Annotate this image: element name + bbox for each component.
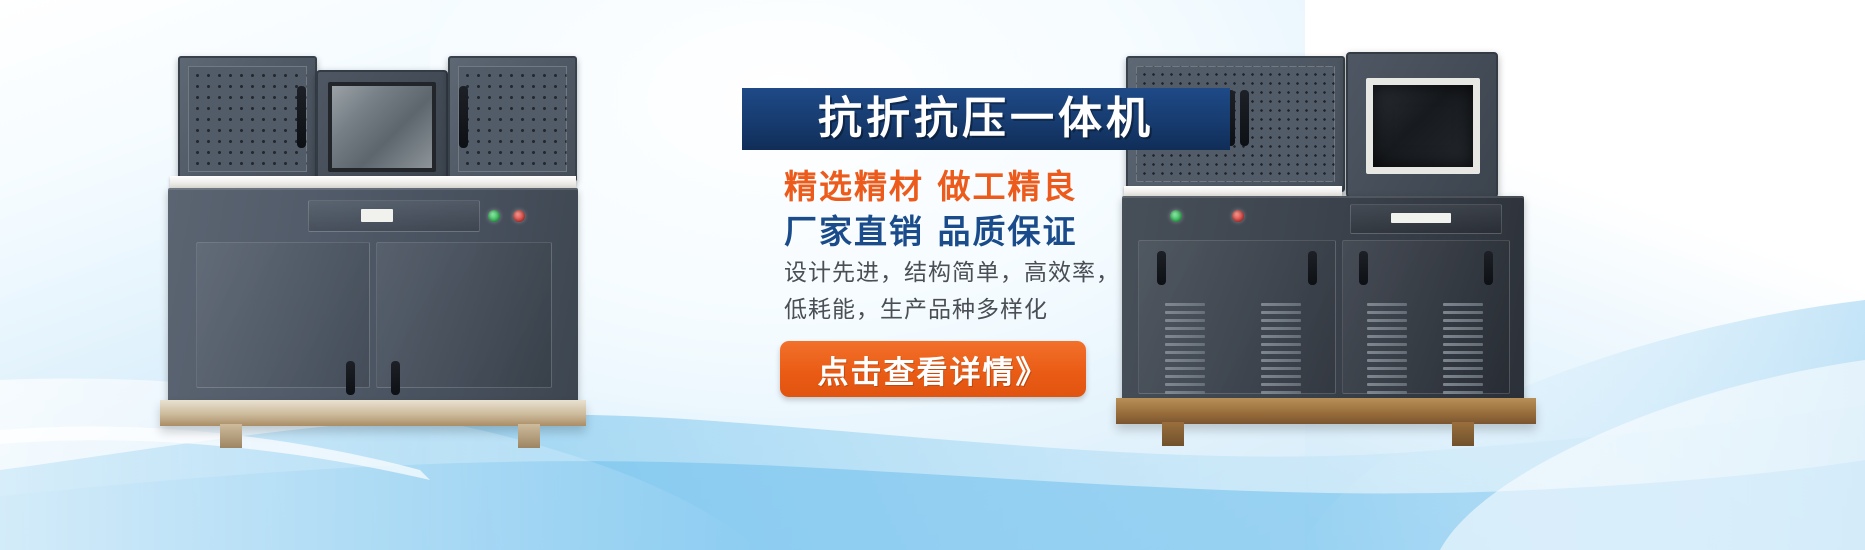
door-handle — [391, 361, 400, 395]
left-control-drawer — [308, 200, 480, 232]
description-line-1: 设计先进，结构简单，高效率， — [784, 253, 1254, 287]
view-details-button[interactable]: 点击查看详情》 — [780, 341, 1086, 397]
left-cabinet-door-b — [376, 242, 552, 388]
left-machine-pallet — [160, 400, 586, 426]
door-handle — [1359, 251, 1368, 285]
left-cabinet-door-a — [196, 242, 370, 388]
right-display-screen — [1366, 78, 1480, 174]
right-monitor-housing — [1346, 52, 1498, 198]
red-indicator — [513, 210, 525, 222]
door-handle — [459, 86, 468, 148]
left-upper-right-perforated-door — [448, 56, 577, 182]
title-bar: 抗折抗压一体机 — [742, 88, 1230, 150]
door-handle — [297, 86, 306, 148]
left-machine-cabinet — [168, 188, 578, 404]
perforation-pattern — [188, 66, 307, 172]
page-title: 抗折抗压一体机 — [818, 97, 1154, 141]
green-indicator — [488, 210, 500, 222]
pallet-leg — [518, 424, 540, 448]
door-handle — [1308, 251, 1317, 285]
view-details-label: 点击查看详情》 — [818, 347, 1049, 392]
pallet-leg — [1452, 422, 1474, 446]
banner-copy-column: 抗折抗压一体机 精选精材 做工精良 厂家直销 品质保证 设计先进，结构简单，高效… — [742, 0, 1262, 550]
door-handle — [1484, 251, 1493, 285]
door-handle — [346, 361, 355, 395]
drawer-label — [1391, 213, 1451, 223]
left-machine-image — [168, 48, 578, 426]
left-display-screen — [328, 82, 436, 172]
left-upper-left-perforated-door — [178, 56, 317, 182]
ventilation-louvers — [1261, 303, 1301, 399]
pallet-leg — [220, 424, 242, 448]
right-control-drawer — [1350, 204, 1502, 234]
drawer-label — [361, 209, 393, 222]
ventilation-louvers — [1443, 303, 1483, 399]
left-monitor-housing — [316, 70, 448, 186]
description-line-2: 低耗能，生产品种多样化 — [784, 290, 1254, 324]
perforation-pattern — [458, 66, 567, 172]
subtitle-blue: 厂家直销 品质保证 — [784, 205, 1244, 253]
subtitle-orange: 精选精材 做工精良 — [784, 160, 1244, 208]
promo-banner: 抗折抗压一体机 精选精材 做工精良 厂家直销 品质保证 设计先进，结构简单，高效… — [0, 0, 1865, 550]
ventilation-louvers — [1367, 303, 1407, 399]
right-cabinet-door-b — [1342, 240, 1510, 394]
